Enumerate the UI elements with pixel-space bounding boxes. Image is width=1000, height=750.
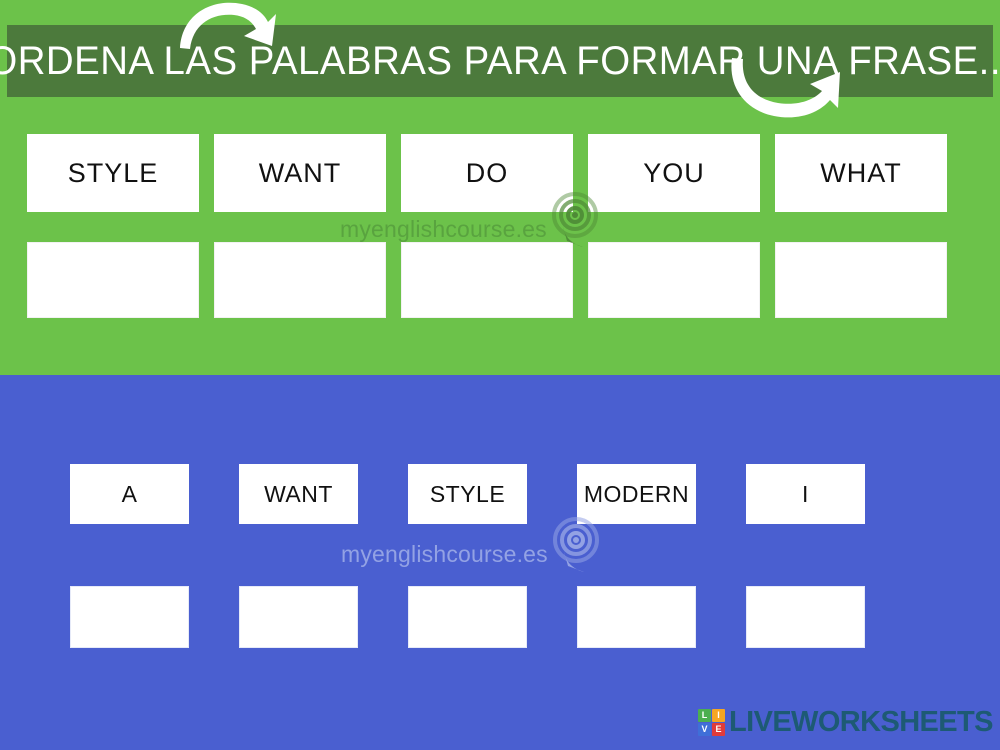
- word-tile[interactable]: STYLE: [27, 134, 199, 212]
- word-tile-label: A: [122, 481, 138, 508]
- word-tile[interactable]: DO: [401, 134, 573, 212]
- word-tile-label: STYLE: [430, 481, 505, 508]
- word-tile-label: YOU: [643, 158, 705, 189]
- liveworksheets-logo[interactable]: L I V E LIVEWORKSHEETS: [698, 708, 993, 737]
- answer-box[interactable]: [408, 586, 527, 648]
- answer-box[interactable]: [401, 242, 573, 318]
- word-tile-label: DO: [466, 158, 509, 189]
- word-tile[interactable]: WANT: [239, 464, 358, 524]
- word-tile-label: WANT: [264, 481, 333, 508]
- worksheet-page: ORDENA LAS PALABRAS PARA FORMAR UNA FRAS…: [0, 0, 1000, 750]
- green-answer-row: [27, 242, 947, 318]
- answer-box[interactable]: [588, 242, 760, 318]
- word-tile[interactable]: STYLE: [408, 464, 527, 524]
- answer-box[interactable]: [27, 242, 199, 318]
- header-banner: ORDENA LAS PALABRAS PARA FORMAR UNA FRAS…: [7, 25, 993, 97]
- logo-tile-l: L: [698, 709, 711, 722]
- logo-tile-v: V: [698, 723, 711, 736]
- word-tile[interactable]: A: [70, 464, 189, 524]
- word-tile[interactable]: YOU: [588, 134, 760, 212]
- answer-box[interactable]: [214, 242, 386, 318]
- word-tile-label: WANT: [259, 158, 341, 189]
- blue-answer-row: [70, 586, 865, 648]
- blue-word-bank: A WANT STYLE MODERN I: [70, 464, 865, 524]
- word-tile-label: MODERN: [584, 481, 689, 508]
- answer-box[interactable]: [746, 586, 865, 648]
- word-tile-label: STYLE: [68, 158, 159, 189]
- word-tile[interactable]: I: [746, 464, 865, 524]
- word-tile[interactable]: MODERN: [577, 464, 696, 524]
- answer-box[interactable]: [577, 586, 696, 648]
- green-word-bank: STYLE WANT DO YOU WHAT: [27, 134, 947, 212]
- answer-box[interactable]: [239, 586, 358, 648]
- logo-tile-e: E: [712, 723, 725, 736]
- word-tile[interactable]: WANT: [214, 134, 386, 212]
- word-tile[interactable]: WHAT: [775, 134, 947, 212]
- liveworksheets-wordmark: LIVEWORKSHEETS: [729, 708, 993, 737]
- logo-tile-i: I: [712, 709, 725, 722]
- blue-exercise-section: [0, 375, 1000, 750]
- page-title: ORDENA LAS PALABRAS PARA FORMAR UNA FRAS…: [0, 41, 1000, 81]
- liveworksheets-logo-mark: L I V E: [698, 709, 725, 736]
- answer-box[interactable]: [70, 586, 189, 648]
- word-tile-label: WHAT: [820, 158, 901, 189]
- word-tile-label: I: [802, 481, 809, 508]
- answer-box[interactable]: [775, 242, 947, 318]
